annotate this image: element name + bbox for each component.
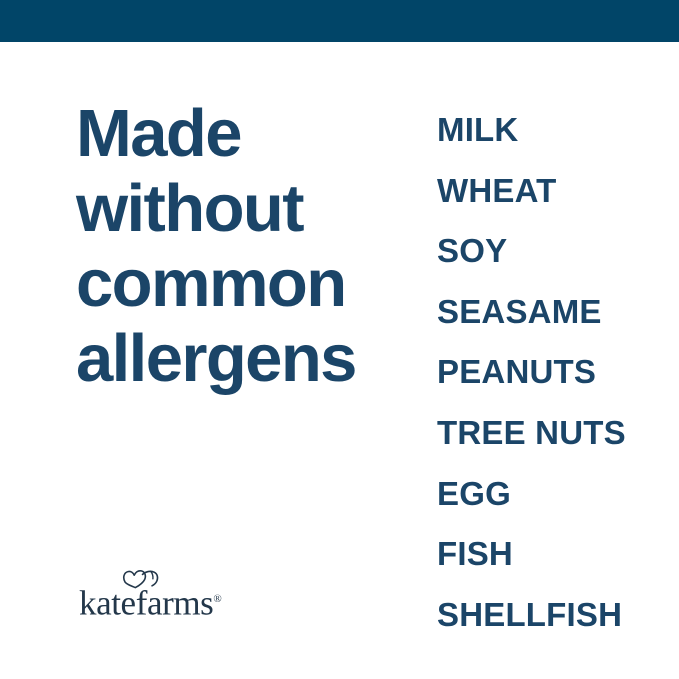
list-item: SEASAME <box>437 282 647 343</box>
list-item: SHELLFISH <box>437 585 647 646</box>
list-item: FISH <box>437 524 647 585</box>
brand-logo: katefarms® <box>79 566 309 618</box>
top-accent-band <box>0 0 679 42</box>
headline-block: Made without common allergens <box>76 96 406 396</box>
list-item: EGG <box>437 464 647 525</box>
list-item: MILK <box>437 100 647 161</box>
list-item: WHEAT <box>437 161 647 222</box>
wordmark-kate: kate <box>79 584 136 623</box>
list-item: SOY <box>437 221 647 282</box>
allergen-list: MILK WHEAT SOY SEASAME PEANUTS TREE NUTS… <box>437 100 647 645</box>
registered-trademark-symbol: ® <box>213 593 221 605</box>
list-item: PEANUTS <box>437 342 647 403</box>
page-title: Made without common allergens <box>76 96 406 396</box>
brand-wordmark: katefarms® <box>79 582 222 621</box>
promo-graphic: Made without common allergens katefarms®… <box>0 0 679 679</box>
wordmark-farms: farms <box>136 584 214 623</box>
list-item: TREE NUTS <box>437 403 647 464</box>
